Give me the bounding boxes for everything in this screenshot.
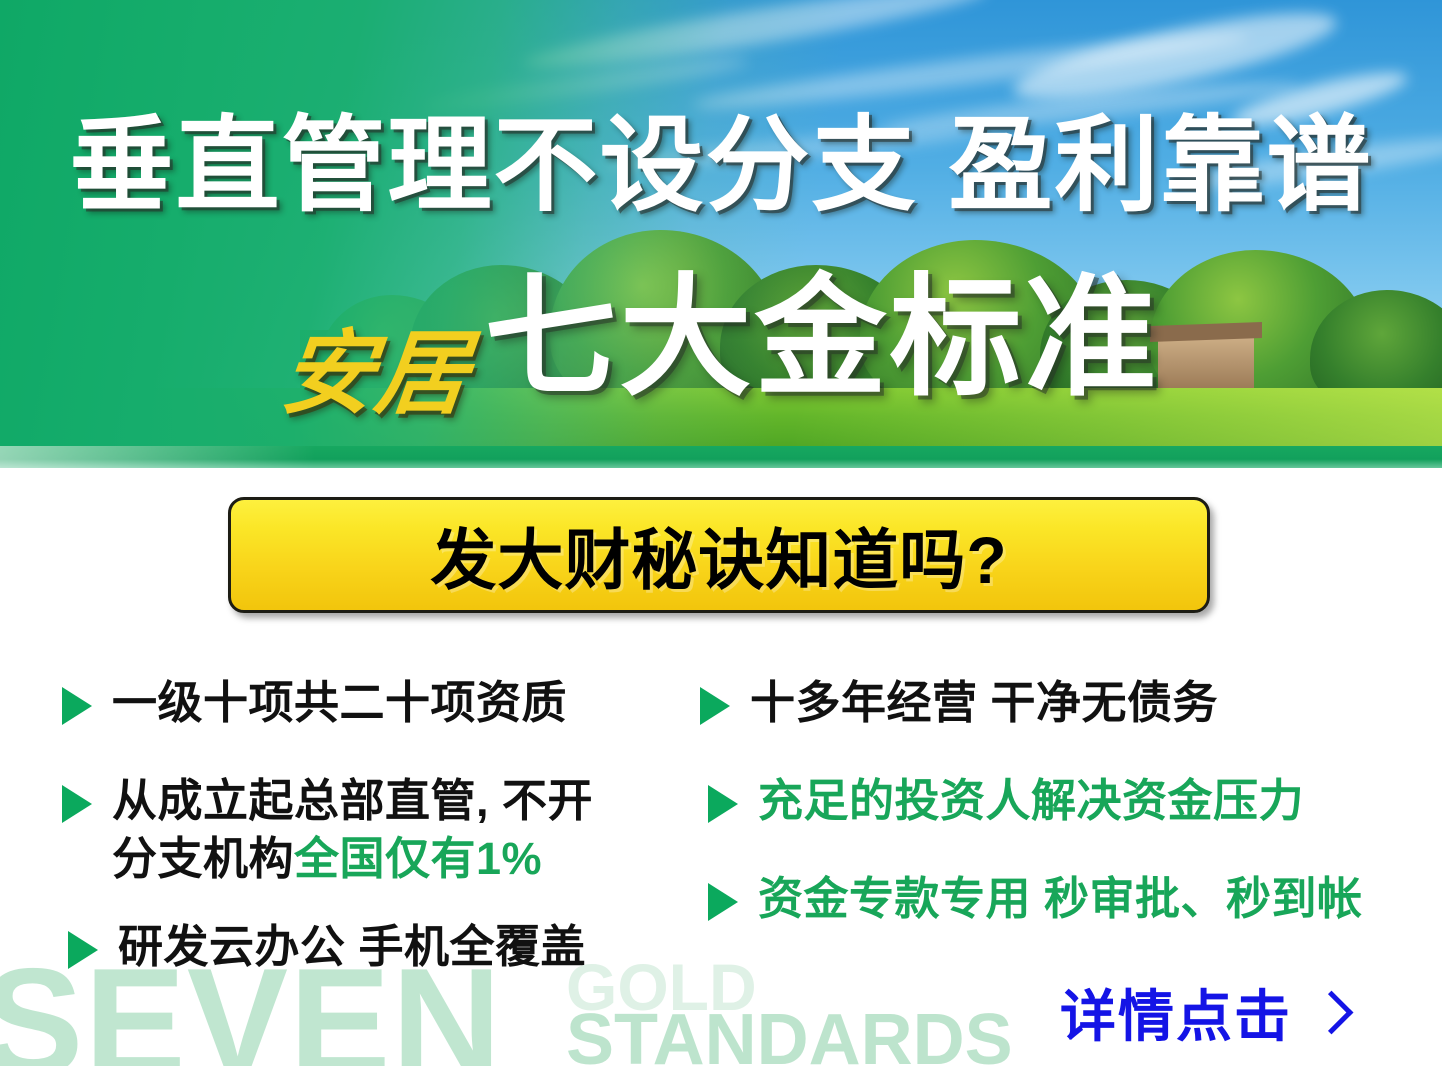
bullet-line: 研发云办公 手机全覆盖 xyxy=(118,921,586,972)
bullet-text: 从成立起总部直管, 不开分支机构全国仅有1% xyxy=(112,772,593,887)
chevron-right-icon xyxy=(1310,991,1354,1035)
hero-headline-main: 七大金标准 xyxy=(485,272,1160,404)
green-triangle-icon xyxy=(700,687,730,725)
bullet-item: 十多年经营 干净无债务 xyxy=(700,674,1218,732)
hero-headline-secondary: 安居七大金标准 xyxy=(0,272,1442,404)
bullet-item: 充足的投资人解决资金压力 xyxy=(708,772,1304,830)
hero-brand-script: 安居 xyxy=(278,328,476,420)
bullet-text: 资金专款专用 秒审批、秒到帐 xyxy=(758,870,1363,928)
bullet-line: 充足的投资人解决资金压力 xyxy=(758,775,1304,826)
green-triangle-icon xyxy=(68,931,98,969)
detail-link-label: 详情点击 xyxy=(1060,972,1292,1053)
green-triangle-icon xyxy=(62,687,92,725)
bullet-line: 资金专款专用 秒审批、秒到帐 xyxy=(758,873,1363,924)
green-triangle-icon xyxy=(62,785,92,823)
headline-cta-banner[interactable]: 发大财秘诀知道吗? xyxy=(228,497,1210,613)
green-divider-highlight xyxy=(0,446,420,468)
bullet-item: 资金专款专用 秒审批、秒到帐 xyxy=(708,870,1363,928)
bullet-text: 研发云办公 手机全覆盖 xyxy=(118,918,586,976)
promo-poster: 垂直管理不设分支 盈利靠谱 安居七大金标准 发大财秘诀知道吗? 一级十项共二十项… xyxy=(0,0,1442,1066)
hero-headline-primary: 垂直管理不设分支 盈利靠谱 xyxy=(0,114,1442,218)
watermark-standards: STANDARDS xyxy=(566,1004,1013,1066)
bullet-text: 一级十项共二十项资质 xyxy=(112,674,567,732)
bullet-line: 一级十项共二十项资质 xyxy=(112,677,567,728)
bullet-line: 十多年经营 干净无债务 xyxy=(750,677,1218,728)
hero-banner: 垂直管理不设分支 盈利靠谱 安居七大金标准 xyxy=(0,0,1442,468)
detail-link[interactable]: 详情点击 xyxy=(1060,972,1347,1053)
bullet-item: 从成立起总部直管, 不开分支机构全国仅有1% xyxy=(62,772,593,887)
bullet-highlight: 全国仅有1% xyxy=(294,833,542,884)
bullet-item: 研发云办公 手机全覆盖 xyxy=(68,918,586,976)
bullet-line: 分支机构 xyxy=(112,833,294,884)
green-triangle-icon xyxy=(708,883,738,921)
bullet-text: 充足的投资人解决资金压力 xyxy=(758,772,1304,830)
bullet-item: 一级十项共二十项资质 xyxy=(62,674,567,732)
bullet-line: 从成立起总部直管, 不开 xyxy=(112,775,593,826)
bullet-text: 十多年经营 干净无债务 xyxy=(750,674,1218,732)
headline-cta-label: 发大财秘诀知道吗? xyxy=(430,507,1007,603)
green-triangle-icon xyxy=(708,785,738,823)
feature-bullets: 一级十项共二十项资质 从成立起总部直管, 不开分支机构全国仅有1% 研发云办公 … xyxy=(0,660,1442,990)
